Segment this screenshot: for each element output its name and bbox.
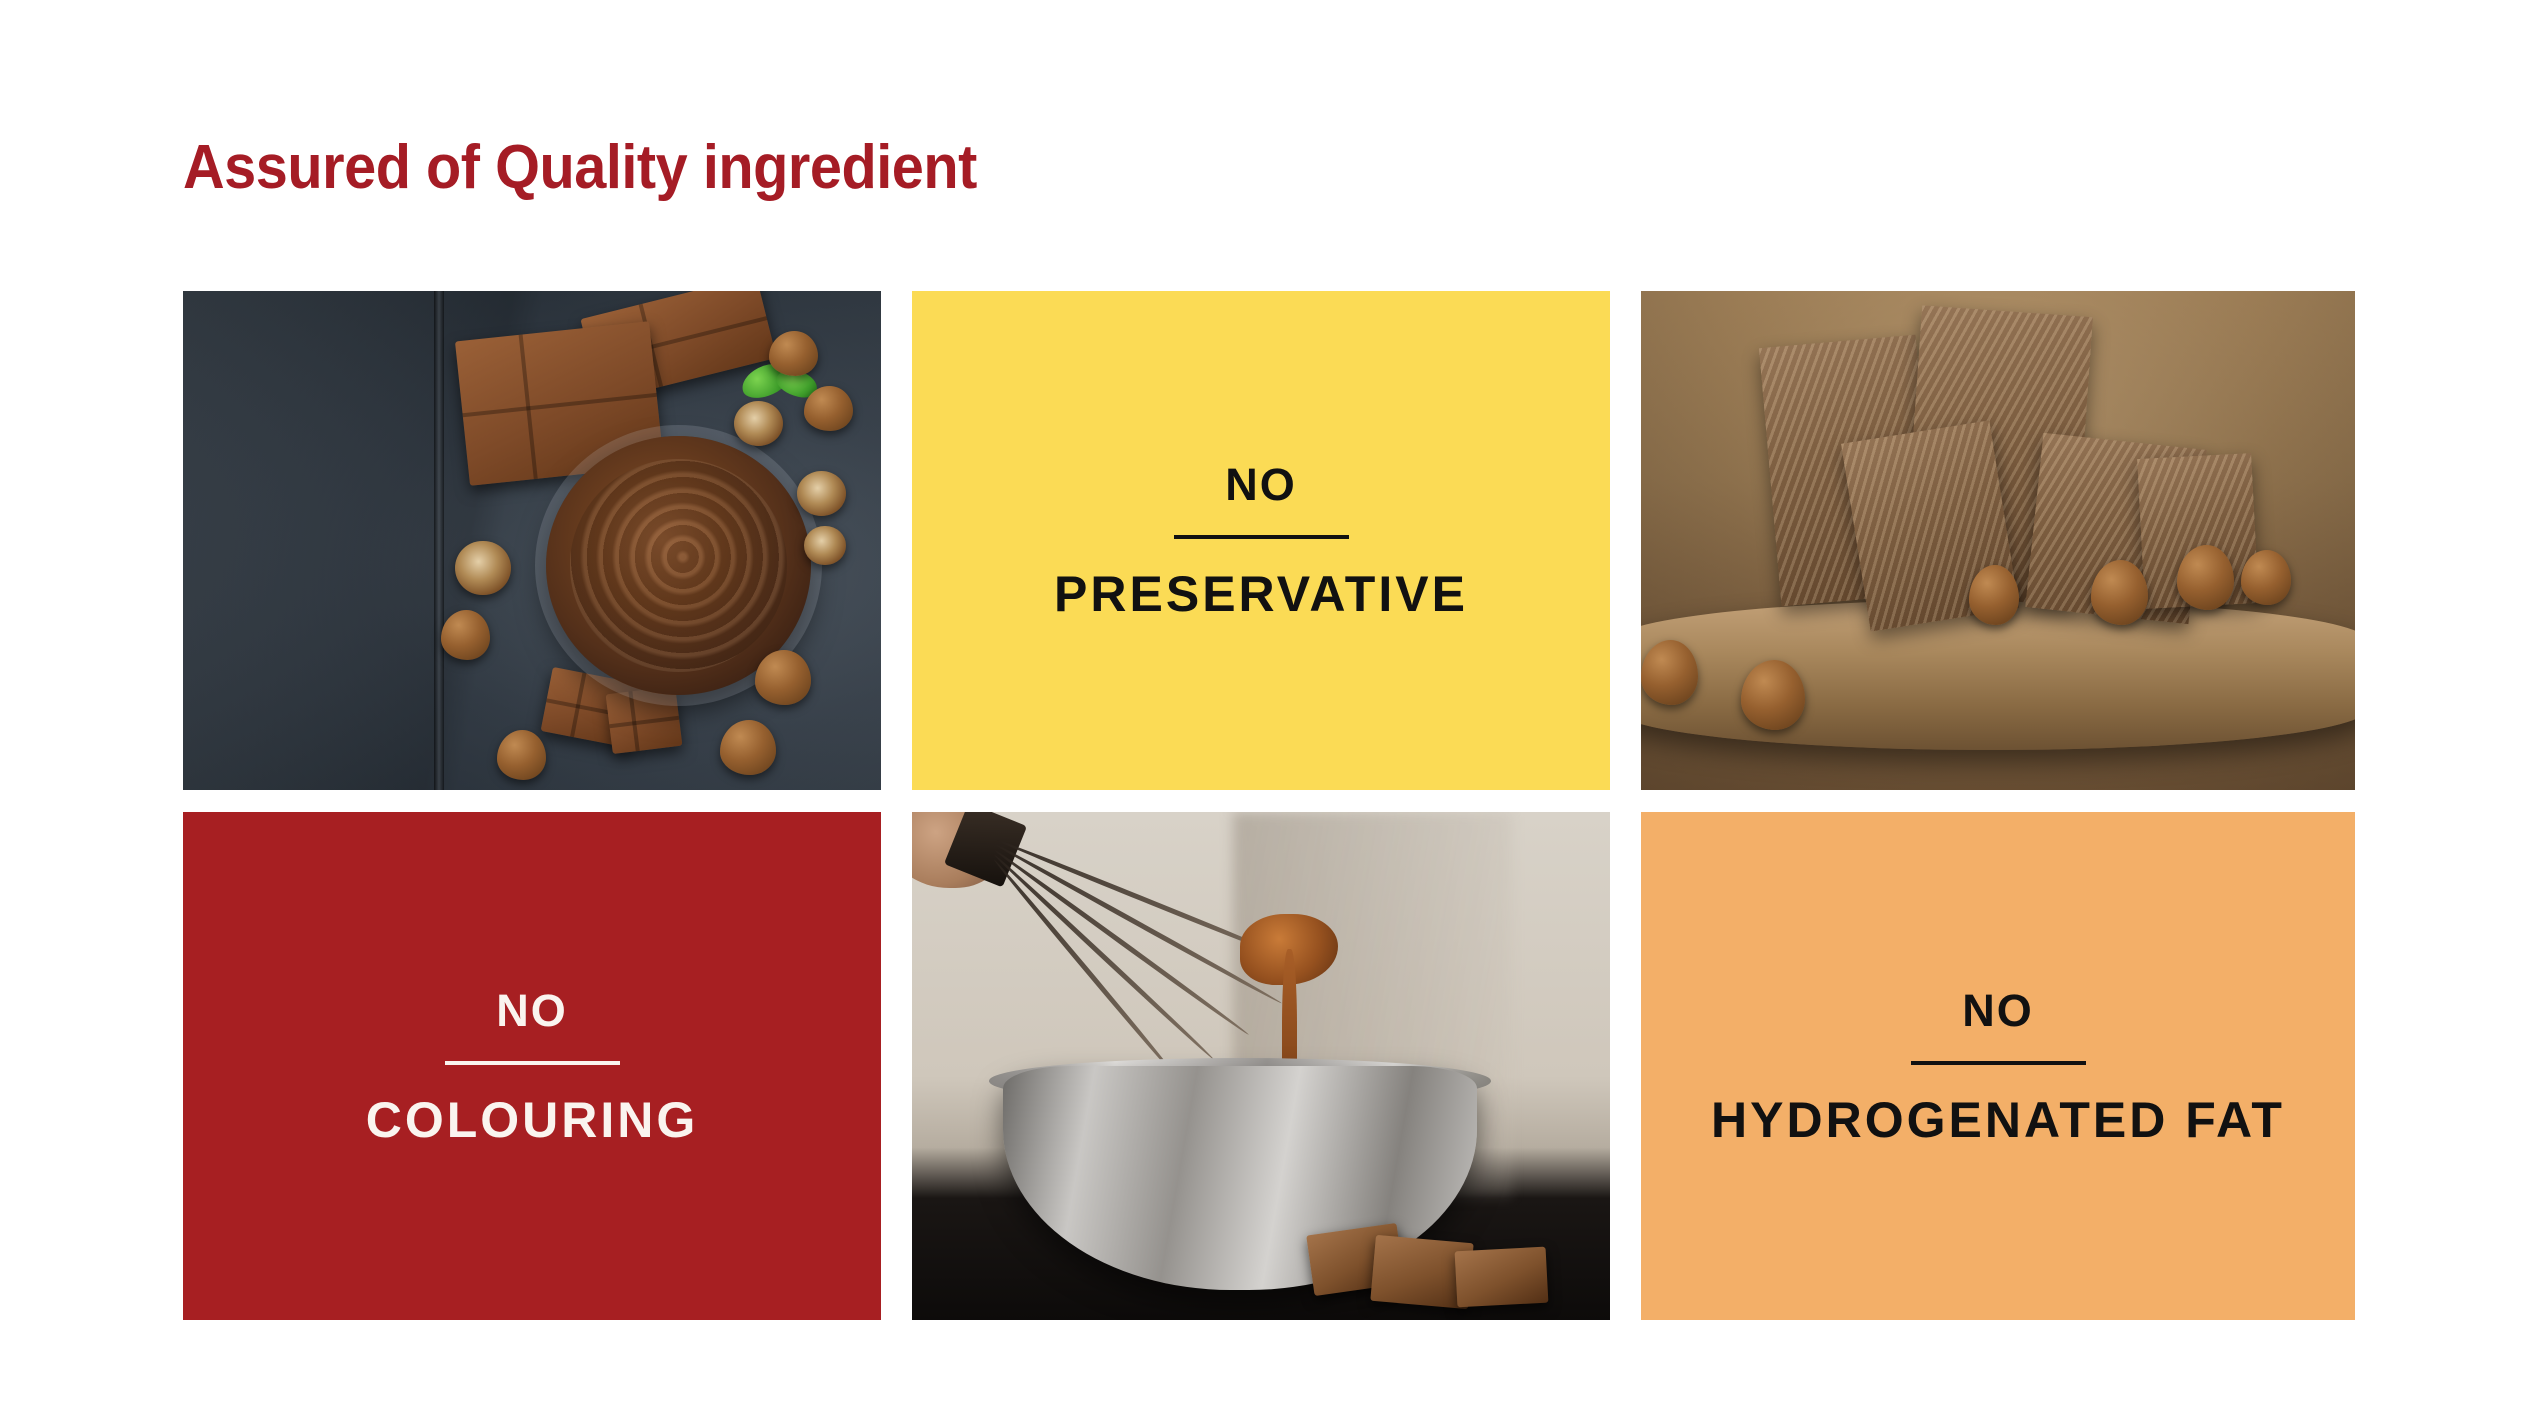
hazelnut-open-icon: [804, 526, 846, 566]
hazelnut-open-icon: [455, 541, 511, 596]
hazelnut-icon: [755, 650, 811, 705]
no-hydrogenated-fat-tile: NO HYDROGENATED FAT: [1641, 812, 2355, 1320]
chocolate-bars-and-spread-photo: [183, 291, 881, 790]
hazelnut-icon: [497, 730, 546, 780]
no-prefix-label: NO: [496, 988, 568, 1033]
hazelnut-icon: [2091, 560, 2148, 625]
no-colouring-tile: NO COLOURING: [183, 812, 881, 1320]
hazelnut-icon: [2241, 550, 2291, 605]
claim-label: HYDROGENATED FAT: [1711, 1095, 2285, 1145]
chocolate-swirl: [570, 459, 788, 672]
no-preservative-tile: NO PRESERVATIVE: [912, 291, 1610, 790]
no-prefix-label: NO: [1962, 988, 2034, 1033]
hazelnut-icon: [720, 720, 776, 775]
chocolate-piece-icon: [605, 686, 682, 754]
divider-rule: [1174, 535, 1349, 539]
hazelnut-open-icon: [797, 471, 846, 516]
chocolate-chunks-photo: [1641, 291, 2355, 790]
hazelnut-icon: [769, 331, 818, 376]
photo-canvas: [912, 812, 1610, 1320]
hazelnut-icon: [1969, 565, 2019, 625]
claim-label: PRESERVATIVE: [1054, 569, 1468, 619]
hazelnut-icon: [1741, 660, 1805, 730]
hazelnut-icon: [2177, 545, 2234, 610]
whisk-melted-chocolate-photo: [912, 812, 1610, 1320]
photo-canvas: [183, 291, 881, 790]
hazelnut-icon: [1641, 640, 1698, 705]
quality-claims-grid: NO PRESERVATIVE NO COLOURING: [183, 291, 2355, 1320]
hazelnut-icon: [804, 386, 853, 431]
claim-label: COLOURING: [366, 1095, 699, 1145]
photo-canvas: [1641, 291, 2355, 790]
hazelnut-icon: [441, 610, 490, 660]
page-title: Assured of Quality ingredient: [183, 132, 977, 203]
divider-rule: [445, 1061, 620, 1065]
chocolate-piece-icon: [1455, 1247, 1549, 1308]
slate-seam: [434, 291, 444, 790]
divider-rule: [1911, 1061, 2086, 1065]
no-prefix-label: NO: [1225, 462, 1297, 507]
hazelnut-open-icon: [734, 401, 783, 446]
